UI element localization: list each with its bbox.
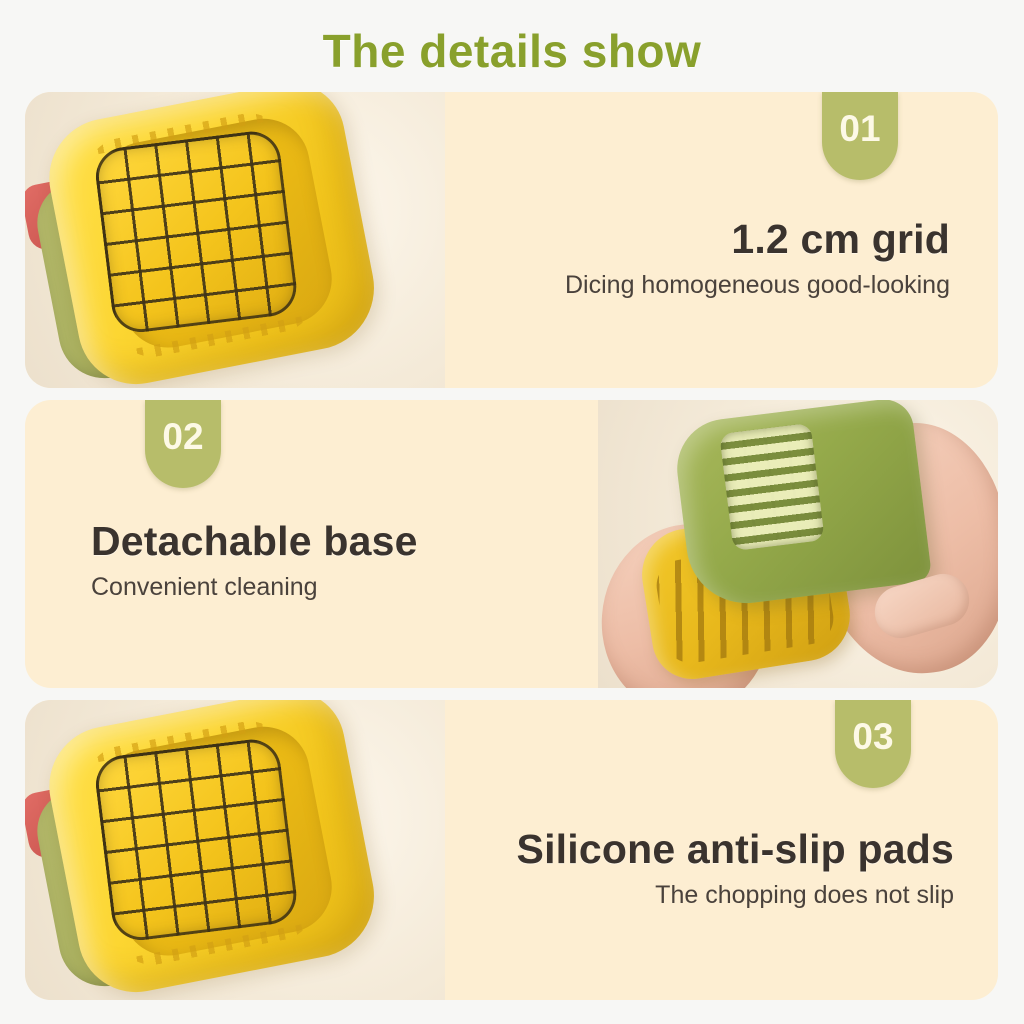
feature-subline-3: The chopping does not slip <box>517 881 954 910</box>
dicing-grid <box>93 736 300 943</box>
feature-panel-2: 02 Detachable base Convenient cleaning <box>25 400 998 688</box>
feature-text-3: Silicone anti-slip pads The chopping doe… <box>517 826 954 910</box>
dicing-grid <box>93 128 300 335</box>
feature-panel-1: 01 1.2 cm grid Dicing homogeneous good-l… <box>25 92 998 388</box>
step-badge-02: 02 <box>145 400 221 488</box>
feature-text-1: 1.2 cm grid Dicing homogeneous good-look… <box>565 216 950 300</box>
fry-cutter-illustration <box>25 700 401 1000</box>
feature-text-2: Detachable base Convenient cleaning <box>91 518 418 602</box>
step-badge-01: 01 <box>822 92 898 180</box>
feature-headline-3: Silicone anti-slip pads <box>517 826 954 873</box>
feature-subline-2: Convenient cleaning <box>91 573 418 602</box>
product-photo-3 <box>25 700 445 1000</box>
step-badge-03: 03 <box>835 700 911 788</box>
feature-subline-1: Dicing homogeneous good-looking <box>565 271 950 300</box>
feature-panel-3: 03 Silicone anti-slip pads The chopping … <box>25 700 998 1000</box>
product-photo-2 <box>598 400 998 688</box>
fry-cutter-illustration <box>25 92 401 388</box>
feature-headline-1: 1.2 cm grid <box>565 216 950 263</box>
lid-slots <box>719 423 825 551</box>
page-title: The details show <box>0 24 1024 78</box>
hands-detaching-illustration <box>598 400 998 688</box>
infographic-page: The details show 01 1.2 cm grid Dicing h… <box>0 0 1024 1024</box>
feature-headline-2: Detachable base <box>91 518 418 565</box>
product-photo-1 <box>25 92 445 388</box>
